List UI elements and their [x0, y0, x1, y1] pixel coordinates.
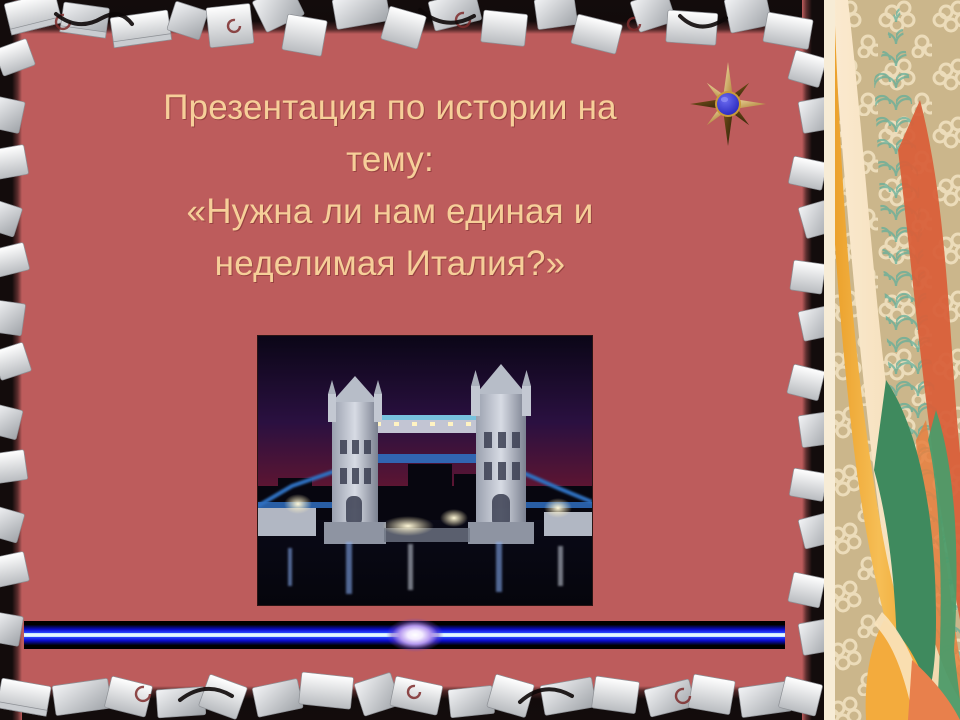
border-band-left — [0, 0, 22, 720]
floral-decorative-sidebar — [824, 0, 960, 720]
title-line-2: тему: — [40, 134, 740, 186]
compass-star-icon — [690, 62, 766, 146]
tower-bridge-night-photo — [258, 336, 592, 605]
border-band-top — [0, 0, 824, 34]
border-band-right — [802, 0, 824, 720]
glowing-blue-divider — [24, 621, 785, 649]
title-line-4: неделимая Италия?» — [40, 238, 740, 290]
slide-canvas: Презентация по истории на тему: «Нужна л… — [0, 0, 960, 720]
neon-hotspot — [379, 615, 451, 655]
title-line-1: Презентация по истории на — [40, 82, 740, 134]
title-line-3: «Нужна ли нам единая и — [40, 186, 740, 238]
page-title: Презентация по истории на тему: «Нужна л… — [40, 82, 740, 290]
presentation-slide: Презентация по истории на тему: «Нужна л… — [0, 0, 824, 720]
border-band-bottom — [0, 686, 824, 720]
